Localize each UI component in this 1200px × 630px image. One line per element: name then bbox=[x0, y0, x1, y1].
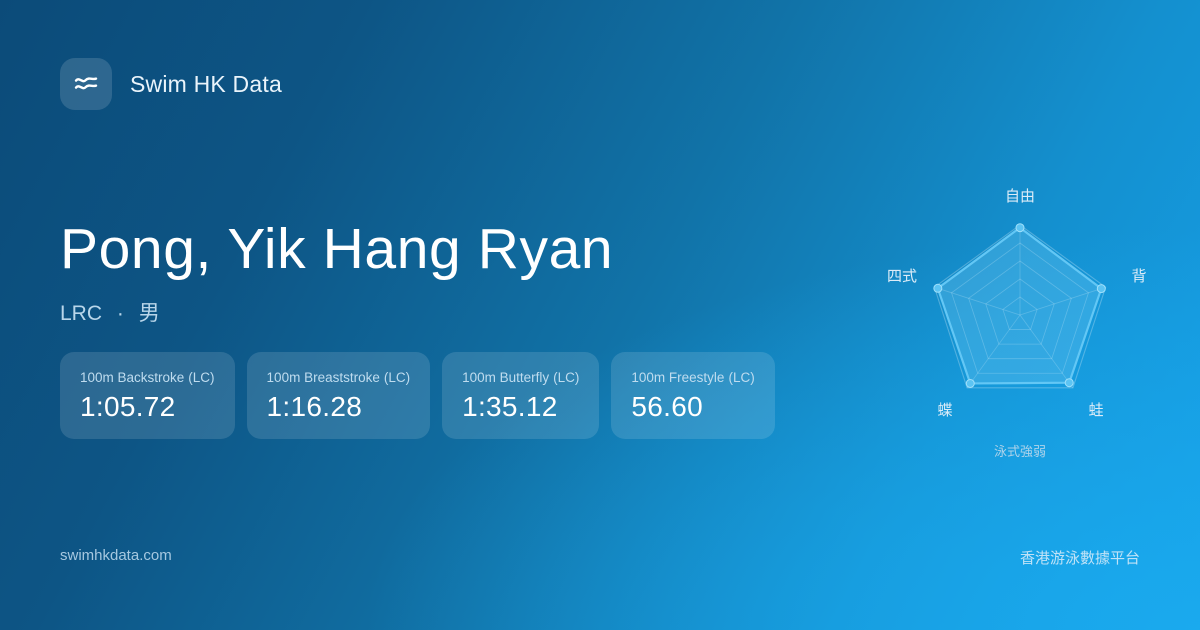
radar-label-fly: 蝶 bbox=[937, 402, 952, 419]
stat-card-label: 100m Backstroke(LC) bbox=[80, 370, 215, 385]
brand-name: Swim HK Data bbox=[130, 71, 282, 98]
radar-label-free: 自由 bbox=[1005, 188, 1035, 205]
share-card: Swim HK Data Pong, Yik Hang Ryan LRC · 男… bbox=[0, 0, 1200, 630]
radar-data-point bbox=[1097, 285, 1105, 293]
stat-course-code: (LC) bbox=[728, 370, 754, 385]
stat-card-label: 100m Butterfly(LC) bbox=[462, 370, 579, 385]
stat-card-label: 100m Breaststroke(LC) bbox=[267, 370, 411, 385]
page-title: Pong, Yik Hang Ryan bbox=[60, 218, 613, 281]
club-label: LRC bbox=[60, 302, 102, 325]
stat-event-name: 100m Freestyle bbox=[631, 370, 724, 385]
stat-time-value: 1:35.12 bbox=[462, 391, 579, 423]
athlete-meta: LRC · 男 bbox=[60, 297, 613, 327]
radar-caption: 泳式強弱 bbox=[869, 441, 1171, 460]
stat-card: 100m Breaststroke(LC) 1:16.28 bbox=[247, 352, 431, 439]
stat-card: 100m Butterfly(LC) 1:35.12 bbox=[442, 352, 599, 439]
gender-label: 男 bbox=[139, 302, 160, 325]
stat-card: 100m Freestyle(LC) 56.60 bbox=[611, 352, 774, 439]
stat-event-name: 100m Backstroke bbox=[80, 370, 184, 385]
stat-time-value: 56.60 bbox=[631, 391, 754, 423]
stat-course-code: (LC) bbox=[384, 370, 410, 385]
footer-site-url: swimhkdata.com bbox=[60, 547, 172, 564]
stat-time-value: 1:16.28 bbox=[267, 391, 411, 423]
stat-event-name: 100m Butterfly bbox=[462, 370, 549, 385]
meta-separator: · bbox=[117, 302, 124, 325]
radar-data-point bbox=[966, 379, 974, 387]
radar-data-point bbox=[934, 284, 942, 292]
radar-chart: 自由 背 蛙 蝶 四式 泳式強弱 bbox=[869, 165, 1171, 475]
footer-tagline: 香港游泳數據平台 bbox=[1020, 547, 1140, 568]
brand-lockup: Swim HK Data bbox=[60, 58, 282, 110]
stat-card-list: 100m Backstroke(LC) 1:05.72 100m Breasts… bbox=[60, 352, 775, 439]
stat-course-code: (LC) bbox=[553, 370, 579, 385]
wave-approx-icon bbox=[60, 58, 112, 110]
stat-card-label: 100m Freestyle(LC) bbox=[631, 370, 754, 385]
stat-card: 100m Backstroke(LC) 1:05.72 bbox=[60, 352, 235, 439]
radar-label-im: 四式 bbox=[887, 268, 917, 285]
radar-series-polygon bbox=[938, 228, 1101, 384]
radar-label-back: 背 bbox=[1131, 268, 1146, 285]
radar-data-point bbox=[1016, 224, 1024, 232]
hero-block: Pong, Yik Hang Ryan LRC · 男 bbox=[60, 218, 613, 327]
radar-label-breast: 蛙 bbox=[1088, 402, 1103, 419]
stat-course-code: (LC) bbox=[188, 370, 214, 385]
radar-data-point bbox=[1065, 379, 1073, 387]
stat-event-name: 100m Breaststroke bbox=[267, 370, 380, 385]
stat-time-value: 1:05.72 bbox=[80, 391, 215, 423]
